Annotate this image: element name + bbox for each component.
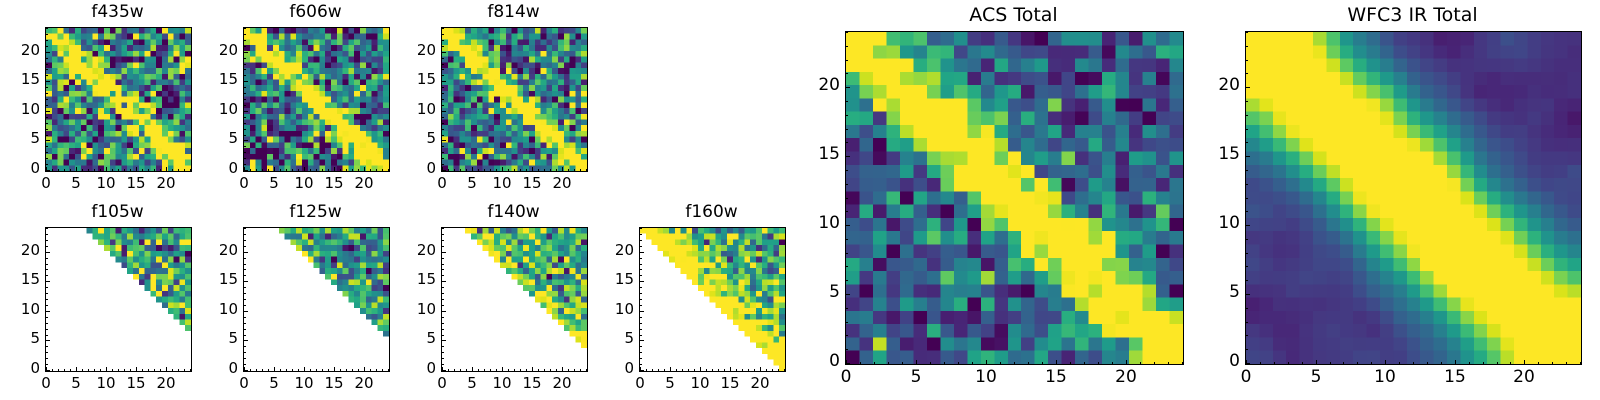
heatmap-image-f140w <box>442 228 587 371</box>
y-tick-label: 10 <box>0 302 40 317</box>
x-tick-label: 5 <box>886 369 946 386</box>
y-tick-label: 20 <box>1180 77 1240 94</box>
x-tick-label: 20 <box>532 376 592 391</box>
x-tick-label: 10 <box>76 176 136 191</box>
x-tick-label: 20 <box>334 176 394 191</box>
x-tick-label: 0 <box>214 176 274 191</box>
x-tick-label: 5 <box>442 176 502 191</box>
panel-title-f606w: f606w <box>243 4 388 21</box>
x-tick-label: 10 <box>472 376 532 391</box>
panel-title-acs-total: ACS Total <box>845 6 1182 25</box>
x-tick-label: 15 <box>1026 369 1086 386</box>
x-tick-label: 5 <box>1286 369 1346 386</box>
y-tick-label: 5 <box>780 284 840 301</box>
x-tick-label: 15 <box>502 376 562 391</box>
x-tick-label: 10 <box>76 376 136 391</box>
plot-area-f814w[interactable] <box>441 27 588 172</box>
y-tick-label: 5 <box>1180 284 1240 301</box>
y-tick-label: 0 <box>0 361 40 376</box>
y-tick-label: 15 <box>0 72 40 87</box>
x-tick-label: 10 <box>1355 369 1415 386</box>
x-tick-label: 15 <box>106 376 166 391</box>
x-tick-label: 15 <box>1425 369 1485 386</box>
panel-title-wfc3-ir-total: WFC3 IR Total <box>1245 6 1580 25</box>
x-tick-label: 5 <box>244 176 304 191</box>
plot-area-f160w[interactable] <box>639 227 786 372</box>
y-tick-label: 20 <box>0 243 40 258</box>
y-tick-label: 0 <box>1180 353 1240 370</box>
x-tick-label: 5 <box>244 376 304 391</box>
y-tick-label: 0 <box>780 353 840 370</box>
plot-area-f105w[interactable] <box>45 227 192 372</box>
panel-title-f140w: f140w <box>441 204 586 221</box>
x-tick-label: 15 <box>700 376 760 391</box>
x-tick-label: 0 <box>412 176 472 191</box>
x-tick-label: 10 <box>472 176 532 191</box>
plot-area-f606w[interactable] <box>243 27 390 172</box>
heatmap-image-wfc3-ir-total <box>1246 32 1581 364</box>
figure-canvas: f435w0055101015152020f606w00551010151520… <box>0 0 1600 400</box>
x-tick-label: 0 <box>214 376 274 391</box>
plot-area-f125w[interactable] <box>243 227 390 372</box>
x-tick-label: 20 <box>1096 369 1156 386</box>
y-tick-label: 20 <box>0 43 40 58</box>
x-tick-label: 15 <box>304 376 364 391</box>
panel-title-f435w: f435w <box>45 4 190 21</box>
y-tick-label: 20 <box>780 77 840 94</box>
x-tick-label: 20 <box>334 376 394 391</box>
x-tick-label: 0 <box>16 176 76 191</box>
y-tick-label: 10 <box>780 215 840 232</box>
x-tick-label: 0 <box>610 376 670 391</box>
x-tick-label: 0 <box>1216 369 1276 386</box>
heatmap-image-f435w <box>46 28 191 171</box>
plot-area-wfc3-ir-total[interactable] <box>1245 31 1582 365</box>
heatmap-image-f125w <box>244 228 389 371</box>
x-tick-label: 10 <box>274 176 334 191</box>
heatmap-image-f814w <box>442 28 587 171</box>
x-tick-label: 20 <box>136 376 196 391</box>
panel-title-f105w: f105w <box>45 204 190 221</box>
panel-wfc3-ir-total: WFC3 IR Total0055101015152020 <box>0 0 1600 400</box>
x-tick-label: 20 <box>532 176 592 191</box>
x-tick-label: 5 <box>46 176 106 191</box>
heatmap-image-acs-total <box>846 32 1183 364</box>
y-tick-label: 15 <box>780 146 840 163</box>
heatmap-image-f160w <box>640 228 785 371</box>
x-tick-label: 10 <box>956 369 1016 386</box>
x-tick-label: 10 <box>274 376 334 391</box>
x-tick-label: 0 <box>816 369 876 386</box>
plot-area-f140w[interactable] <box>441 227 588 372</box>
y-tick-label: 10 <box>1180 215 1240 232</box>
y-tick-label: 0 <box>0 161 40 176</box>
panel-title-f160w: f160w <box>639 204 784 221</box>
y-tick-label: 15 <box>0 272 40 287</box>
x-tick-label: 0 <box>16 376 76 391</box>
x-tick-label: 10 <box>670 376 730 391</box>
x-tick-label: 15 <box>106 176 166 191</box>
x-tick-label: 20 <box>1494 369 1554 386</box>
panel-title-f814w: f814w <box>441 4 586 21</box>
x-tick-label: 15 <box>502 176 562 191</box>
y-tick-label: 5 <box>0 131 40 146</box>
plot-area-f435w[interactable] <box>45 27 192 172</box>
x-tick-label: 20 <box>136 176 196 191</box>
heatmap-image-f105w <box>46 228 191 371</box>
x-tick-label: 5 <box>46 376 106 391</box>
heatmap-image-f606w <box>244 28 389 171</box>
x-tick-label: 15 <box>304 176 364 191</box>
x-tick-label: 20 <box>730 376 790 391</box>
x-tick-label: 5 <box>640 376 700 391</box>
plot-area-acs-total[interactable] <box>845 31 1184 365</box>
panel-title-f125w: f125w <box>243 204 388 221</box>
x-tick-label: 5 <box>442 376 502 391</box>
y-tick-label: 15 <box>1180 146 1240 163</box>
y-tick-label: 5 <box>0 331 40 346</box>
y-tick-label: 10 <box>0 102 40 117</box>
x-tick-label: 0 <box>412 376 472 391</box>
